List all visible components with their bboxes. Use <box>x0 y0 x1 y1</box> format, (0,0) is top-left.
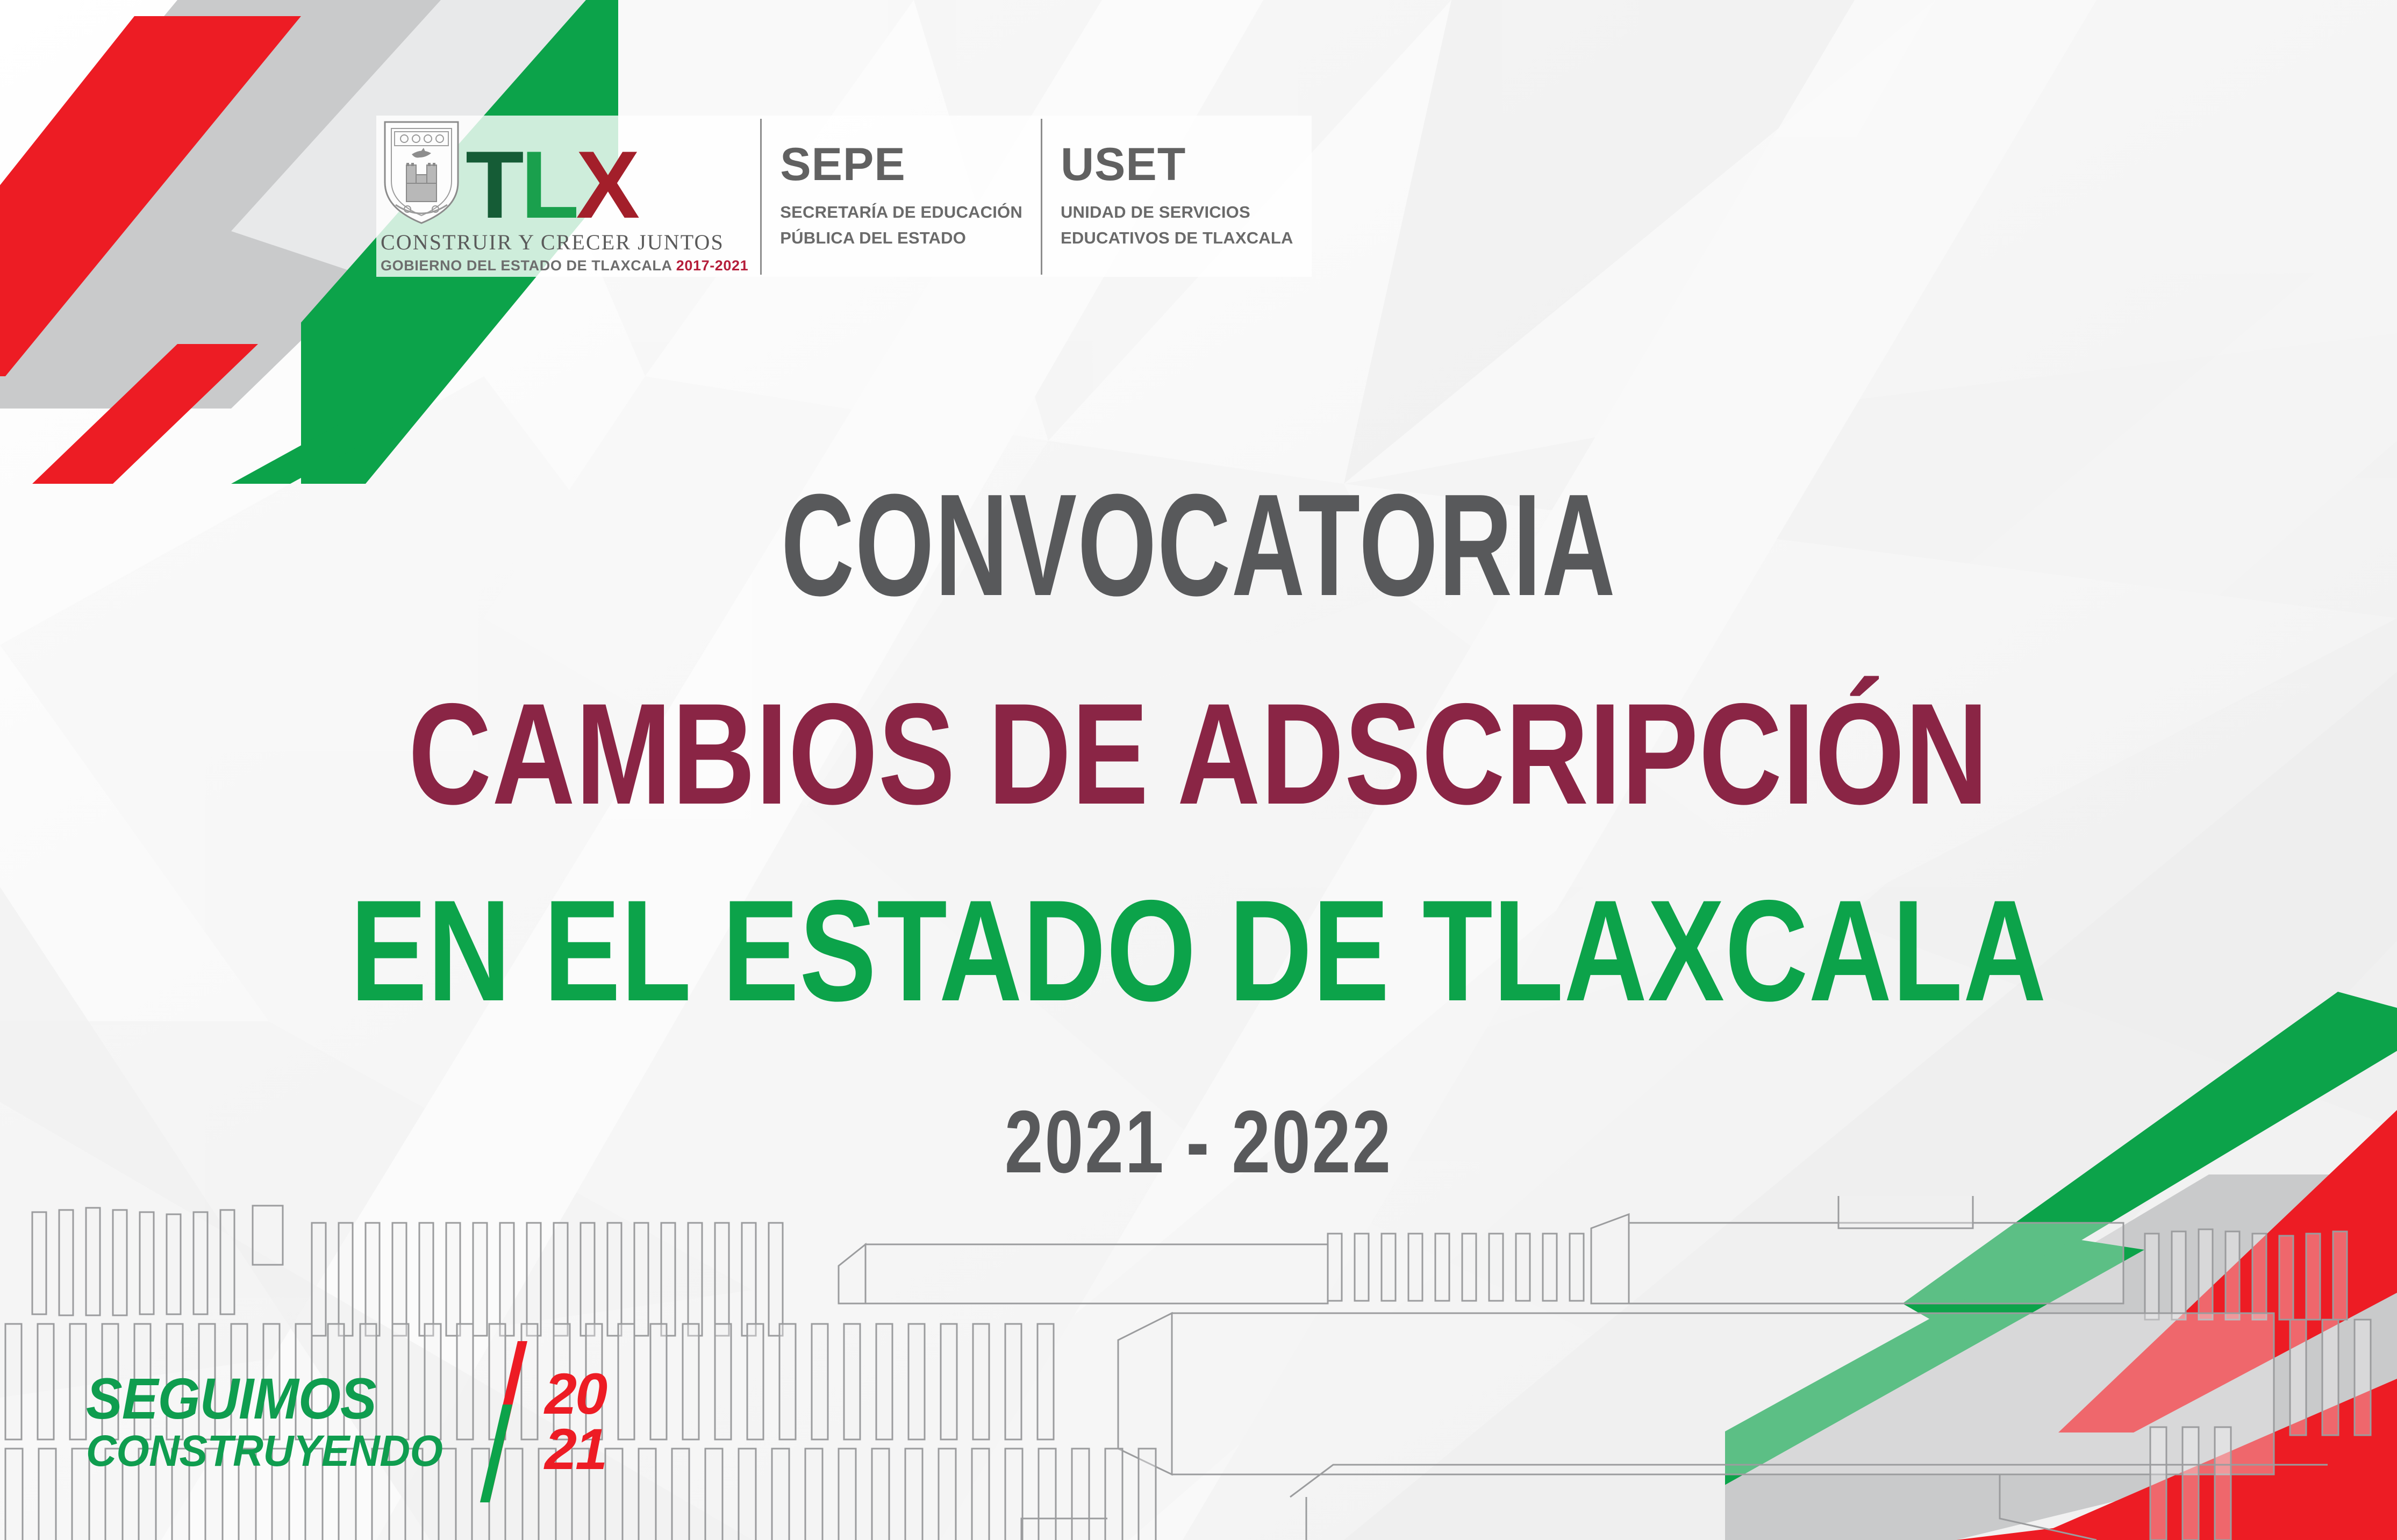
tlx-government-line: GOBIERNO DEL ESTADO DE TLAXCALA 2017-202… <box>381 257 748 274</box>
uset-logo: USET UNIDAD DE SERVICIOS EDUCATIVOS DE T… <box>1042 116 1312 277</box>
seguimos-year-stack: 20 21 <box>545 1366 606 1477</box>
institutional-logo-lockup: TLX CONSTRUIR Y CRECER JUNTOS GOBIERNO D… <box>376 116 1312 277</box>
seguimos-wordmark: SEGUIMOS CONSTRUYENDO <box>86 1371 457 1473</box>
tlx-government-logo: TLX CONSTRUIR Y CRECER JUNTOS GOBIERNO D… <box>376 116 760 277</box>
seguimos-construyendo-logo: SEGUIMOS CONSTRUYENDO 20 21 <box>86 1341 606 1502</box>
uset-line-2: EDUCATIVOS DE TLAXCALA <box>1061 225 1293 251</box>
tlx-letters: TLX <box>466 144 636 226</box>
tlx-letter-x: X <box>576 131 636 238</box>
sepe-logo: SEPE SECRETARÍA DE EDUCACIÓN PÚBLICA DEL… <box>762 116 1041 277</box>
sepe-subtitle: SECRETARÍA DE EDUCACIÓN PÚBLICA DEL ESTA… <box>780 199 1022 251</box>
seguimos-line-2: CONSTRUYENDO <box>86 1430 442 1473</box>
title-period: 2021 - 2022 <box>263 1098 2133 1186</box>
uset-subtitle: UNIDAD DE SERVICIOS EDUCATIVOS DE TLAXCA… <box>1061 199 1293 251</box>
tlx-letter-t: T <box>466 131 521 238</box>
uset-acronym: USET <box>1061 141 1293 188</box>
tricolor-slash-icon <box>471 1341 536 1502</box>
sepe-acronym: SEPE <box>780 141 1022 188</box>
poster-title-block: CONVOCATORIA CAMBIOS DE ADSCRIPCIÓN EN E… <box>0 473 2397 1186</box>
seguimos-year-bottom: 21 <box>545 1422 606 1477</box>
tlx-government-text: GOBIERNO DEL ESTADO DE TLAXCALA <box>381 257 672 274</box>
tlaxcala-coat-of-arms-icon <box>381 119 462 226</box>
tlx-mark-row: TLX <box>381 119 748 226</box>
seguimos-year-top: 20 <box>545 1366 606 1422</box>
seguimos-line-1: SEGUIMOS <box>86 1371 435 1427</box>
sepe-line-2: PÚBLICA DEL ESTADO <box>780 225 1022 251</box>
tlx-letter-l: L <box>521 131 576 238</box>
page-title: CONVOCATORIA <box>360 473 2037 618</box>
uset-line-1: UNIDAD DE SERVICIOS <box>1061 199 1293 225</box>
title-subject: CAMBIOS DE ADSCRIPCIÓN <box>240 682 2157 826</box>
title-scope: EN EL ESTADO DE TLAXCALA <box>240 878 2157 1022</box>
poster-canvas: SEGUIMOS CONSTRUYENDO 20 21 <box>0 0 2397 1540</box>
sepe-line-1: SECRETARÍA DE EDUCACIÓN <box>780 199 1022 225</box>
tlx-tagline: CONSTRUIR Y CRECER JUNTOS <box>381 230 748 255</box>
tlx-term-years: 2017-2021 <box>676 257 749 274</box>
